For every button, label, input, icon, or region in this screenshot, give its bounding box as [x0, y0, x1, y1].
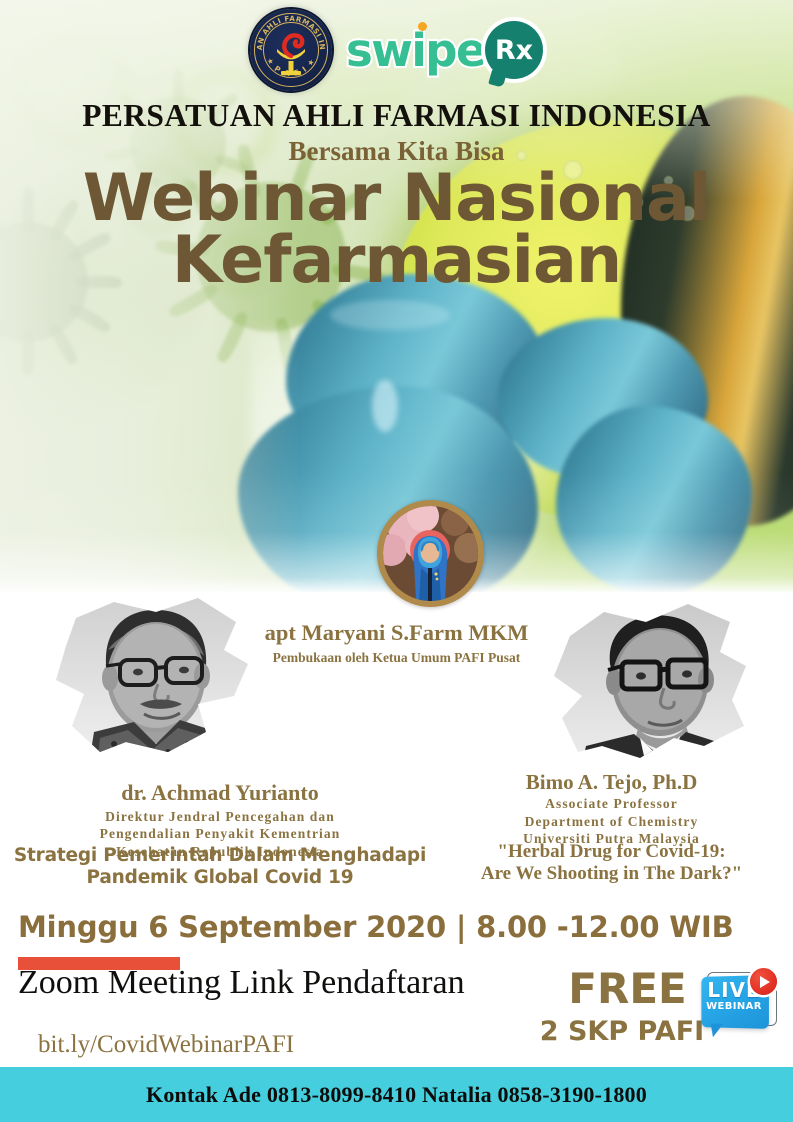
- svg-text:PERSATUAN AHLI FARMASI INDONES: PERSATUAN AHLI FARMASI INDONESIA: [250, 9, 327, 51]
- affiliation-line: Department of Chemistry: [430, 813, 793, 831]
- rx-label: Rx: [485, 21, 543, 79]
- affiliation-line: Pengendalian Penyakit Kementrian: [0, 825, 440, 842]
- swipe-wordmark: swipe: [346, 28, 485, 73]
- affiliation-line: Associate Professor: [430, 795, 793, 813]
- price-label: FREE: [545, 968, 710, 1010]
- play-button-icon: [750, 968, 777, 995]
- swipe-dot-icon: [418, 22, 427, 31]
- play-triangle-icon: [760, 976, 770, 988]
- contact-text: Kontak Ade 0813-8099-8410 Natalia 0858-3…: [146, 1082, 647, 1108]
- swiperx-logo: swipe Rx: [346, 19, 543, 81]
- glove-highlight: [372, 380, 398, 432]
- live-webinar-badge: LIVE WEBINAR: [696, 968, 778, 1044]
- photo-bimo-tejo-art: [548, 600, 753, 765]
- pafi-logo: PERSATUAN AHLI FARMASI INDONESIA ★ P A F…: [250, 9, 332, 91]
- live-badge-subtitle: WEBINAR: [700, 1002, 768, 1012]
- talk-line: Strategi Pemerintah Dalam Menghadapi: [0, 845, 440, 867]
- logo-row: PERSATUAN AHLI FARMASI INDONESIA ★ P A F…: [0, 6, 793, 94]
- talk-line: Pandemik Global Covid 19: [0, 867, 440, 889]
- pafi-logo-art: PERSATUAN AHLI FARMASI INDONESIA ★ P A F…: [250, 9, 332, 91]
- affiliation-line: Direktur Jendral Pencegahan dan: [0, 808, 440, 825]
- speaker-talk-title-bimo: "Herbal Drug for Covid-19: Are We Shooti…: [430, 841, 793, 886]
- photo-achmad-yurianto: [48, 592, 258, 757]
- event-datetime: Minggu 6 September 2020 | 8.00 -12.00 WI…: [18, 913, 734, 942]
- registration-label: Zoom Meeting Link Pendaftaran: [18, 966, 465, 1000]
- speaker-name-bimo: Bimo A. Tejo, Ph.D: [430, 772, 793, 793]
- talk-line: "Herbal Drug for Covid-19:: [430, 841, 793, 863]
- speaker-affiliation-bimo: Associate Professor Department of Chemis…: [430, 795, 793, 848]
- webinar-poster: PERSATUAN AHLI FARMASI INDONESIA ★ P A F…: [0, 0, 793, 1122]
- avatar-maryani: [377, 500, 484, 607]
- photo-bimo-tejo: [548, 600, 753, 765]
- organization-title: PERSATUAN AHLI FARMASI INDONESIA: [0, 100, 793, 132]
- rx-bubble-icon: Rx: [485, 21, 543, 79]
- registration-link[interactable]: bit.ly/CovidWebinarPAFI: [38, 1032, 294, 1057]
- talk-line: Are We Shooting in The Dark?": [430, 863, 793, 885]
- avatar-maryani-photo: [383, 506, 478, 601]
- photo-achmad-yurianto-art: [48, 592, 258, 757]
- page-title: Webinar Nasional Kefarmasian: [0, 166, 793, 295]
- glove-highlight: [330, 300, 450, 330]
- speaker-name-yurianto: dr. Achmad Yurianto: [0, 782, 440, 804]
- headline-line-2: Kefarmasian: [0, 228, 793, 294]
- contact-footer-bar: Kontak Ade 0813-8099-8410 Natalia 0858-3…: [0, 1067, 793, 1122]
- avatar-maryani-art: [383, 506, 478, 601]
- speaker-talk-title-yurianto: Strategi Pemerintah Dalam Menghadapi Pan…: [0, 845, 440, 889]
- credits-label: 2 SKP PAFI: [532, 1018, 712, 1045]
